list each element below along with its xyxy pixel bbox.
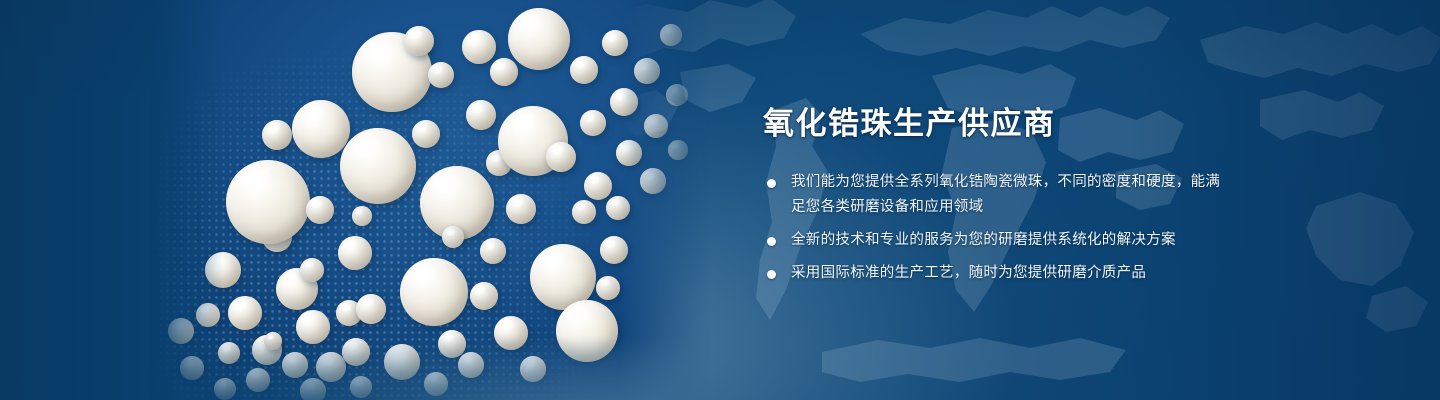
ceramic-bead <box>584 172 612 200</box>
ceramic-bead <box>316 352 346 382</box>
ceramic-bead <box>462 30 496 64</box>
banner-bullet-text: 采用国际标准的生产工艺，随时为您提供研磨介质产品 <box>791 265 1146 281</box>
ceramic-bead <box>490 58 518 86</box>
ceramic-bead <box>640 168 666 194</box>
ceramic-bead <box>520 356 546 382</box>
ceramic-bead <box>404 26 434 56</box>
ceramic-bead <box>296 310 330 344</box>
ceramic-bead <box>570 56 598 84</box>
ceramic-bead <box>246 368 270 392</box>
ceramic-bead <box>546 142 576 172</box>
filled-circle-bullet-icon <box>767 270 776 279</box>
ceramic-bead <box>356 294 386 324</box>
ceramic-bead <box>412 120 440 148</box>
zirconia-ceramic-beads-photo <box>150 0 710 400</box>
ceramic-bead <box>596 276 620 300</box>
banner-bullet-item: 我们能为您提供全系列氧化锆陶瓷微珠，不同的密度和硬度，能满足您各类研磨设备和应用… <box>763 170 1233 220</box>
ceramic-bead <box>428 62 454 88</box>
banner-bullet-list: 我们能为您提供全系列氧化锆陶瓷微珠，不同的密度和硬度，能满足您各类研磨设备和应用… <box>763 170 1233 286</box>
ceramic-bead <box>668 140 688 160</box>
ceramic-bead <box>602 30 628 56</box>
ceramic-bead <box>666 84 688 106</box>
ceramic-bead <box>226 160 310 244</box>
ceramic-bead <box>644 114 668 138</box>
ceramic-bead <box>580 110 606 136</box>
ceramic-bead <box>300 378 326 400</box>
ceramic-bead <box>466 100 496 130</box>
banner-headline: 氧化锆珠生产供应商 <box>763 104 1233 144</box>
ceramic-bead <box>196 303 220 327</box>
ceramic-bead <box>384 344 420 380</box>
ceramic-bead <box>342 338 370 366</box>
ceramic-bead <box>214 378 236 400</box>
ceramic-bead <box>205 252 241 288</box>
ceramic-bead <box>458 352 484 378</box>
ceramic-bead <box>400 258 468 326</box>
ceramic-bead <box>480 238 506 264</box>
ceramic-bead <box>292 100 350 158</box>
filled-circle-bullet-icon <box>767 179 776 188</box>
ceramic-bead <box>340 128 416 204</box>
ceramic-bead <box>424 372 448 396</box>
filled-circle-bullet-icon <box>767 237 776 246</box>
banner-bullet-item: 全新的技术和专业的服务为您的研磨提供系统化的解决方案 <box>763 228 1233 253</box>
ceramic-bead <box>218 342 240 364</box>
ceramic-bead <box>180 356 204 380</box>
ceramic-bead <box>282 352 308 378</box>
ceramic-bead <box>338 236 372 270</box>
hero-banner: 氧化锆珠生产供应商 我们能为您提供全系列氧化锆陶瓷微珠，不同的密度和硬度，能满足… <box>0 0 1440 400</box>
ceramic-bead <box>228 296 262 330</box>
ceramic-bead <box>506 194 536 224</box>
banner-bullet-text: 我们能为您提供全系列氧化锆陶瓷微珠，不同的密度和硬度，能满足您各类研磨设备和应用… <box>791 174 1220 215</box>
ceramic-bead <box>262 120 292 150</box>
ceramic-bead <box>352 206 372 226</box>
ceramic-bead <box>610 88 638 116</box>
beads-cluster <box>150 0 710 400</box>
ceramic-bead <box>300 258 324 282</box>
ceramic-bead <box>572 200 596 224</box>
ceramic-bead <box>606 196 630 220</box>
ceramic-bead <box>264 332 282 350</box>
ceramic-bead <box>634 58 660 84</box>
ceramic-bead <box>306 196 334 224</box>
banner-bullet-text: 全新的技术和专业的服务为您的研磨提供系统化的解决方案 <box>791 232 1176 248</box>
ceramic-bead <box>168 318 194 344</box>
banner-copy: 氧化锆珠生产供应商 我们能为您提供全系列氧化锆陶瓷微珠，不同的密度和硬度，能满足… <box>763 104 1233 286</box>
ceramic-bead <box>616 140 642 166</box>
ceramic-bead <box>438 330 466 358</box>
ceramic-bead <box>350 376 372 398</box>
banner-bullet-item: 采用国际标准的生产工艺，随时为您提供研磨介质产品 <box>763 261 1233 286</box>
ceramic-bead <box>600 236 628 264</box>
ceramic-bead <box>660 24 682 46</box>
ceramic-bead <box>494 316 528 350</box>
ceramic-bead <box>556 300 618 362</box>
ceramic-bead <box>470 282 498 310</box>
ceramic-bead <box>508 8 570 70</box>
ceramic-bead <box>442 226 464 248</box>
